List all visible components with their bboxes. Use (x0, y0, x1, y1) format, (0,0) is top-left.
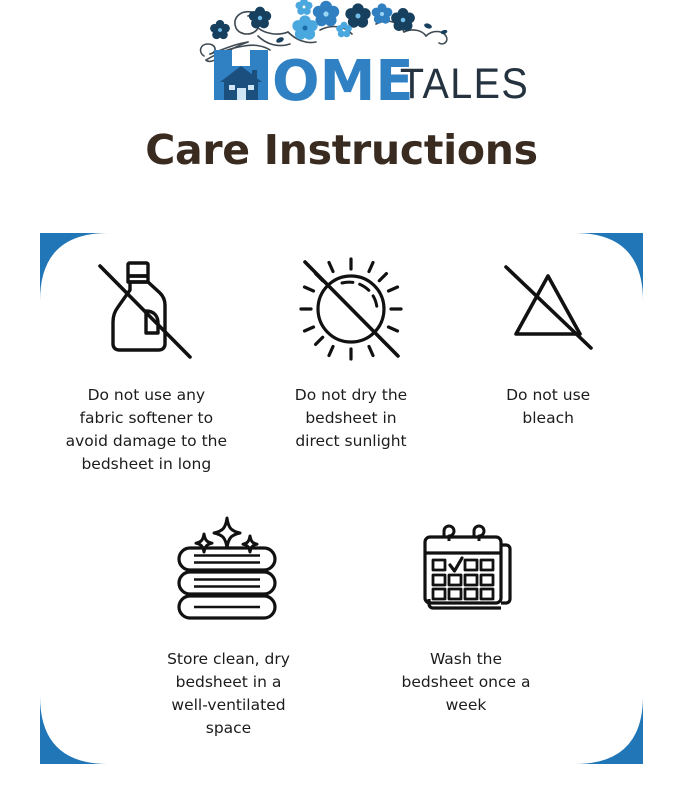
care-item-no-direct-sunlight: Do not dry the bedsheet in direct sunlig… (249, 240, 454, 453)
icon-container (166, 504, 292, 636)
icon-container (492, 240, 604, 372)
care-caption: Do not use any fabric softener to avoid … (66, 384, 227, 476)
home-tales-logo-svg: OME TALES (192, 0, 492, 118)
care-caption: Do not use bleach (506, 384, 590, 430)
care-item-no-fabric-softener: Do not use any fabric softener to avoid … (44, 240, 249, 476)
icon-container (413, 504, 519, 636)
icon-container (289, 240, 413, 372)
sun-crossed-out-icon (289, 245, 413, 367)
house-letter-h-icon (214, 50, 268, 100)
logo-text-ome: OME (272, 49, 414, 114)
care-caption: Store clean, dry bedsheet in a well-vent… (167, 648, 290, 740)
care-instructions-page: OME TALES Care Instructions (0, 0, 683, 800)
brand-logo: OME TALES (0, 0, 683, 118)
checkmark-icon (450, 558, 462, 571)
care-caption: Wash the bedsheet once a week (402, 648, 531, 717)
calendar-checkmark-icon (413, 515, 519, 625)
care-row-2: Store clean, dry bedsheet in a well-vent… (40, 504, 643, 740)
care-row-1: Do not use any fabric softener to avoid … (40, 240, 643, 476)
care-item-wash-weekly: Wash the bedsheet once a week (371, 504, 561, 717)
care-item-store-clean-dry: Store clean, dry bedsheet in a well-vent… (126, 504, 331, 740)
care-item-no-bleach: Do not use bleach (453, 240, 643, 430)
logo-text-tales: TALES (399, 59, 528, 107)
detergent-bottle-crossed-out-icon (86, 245, 206, 367)
care-caption: Do not dry the bedsheet in direct sunlig… (295, 384, 407, 453)
bleach-triangle-crossed-out-icon (492, 250, 604, 362)
icon-container (86, 240, 206, 372)
sparkle-icon (196, 518, 257, 552)
care-instructions-grid: Do not use any fabric softener to avoid … (40, 240, 643, 740)
folded-towels-sparkle-icon (166, 512, 292, 628)
page-title: Care Instructions (0, 126, 683, 174)
